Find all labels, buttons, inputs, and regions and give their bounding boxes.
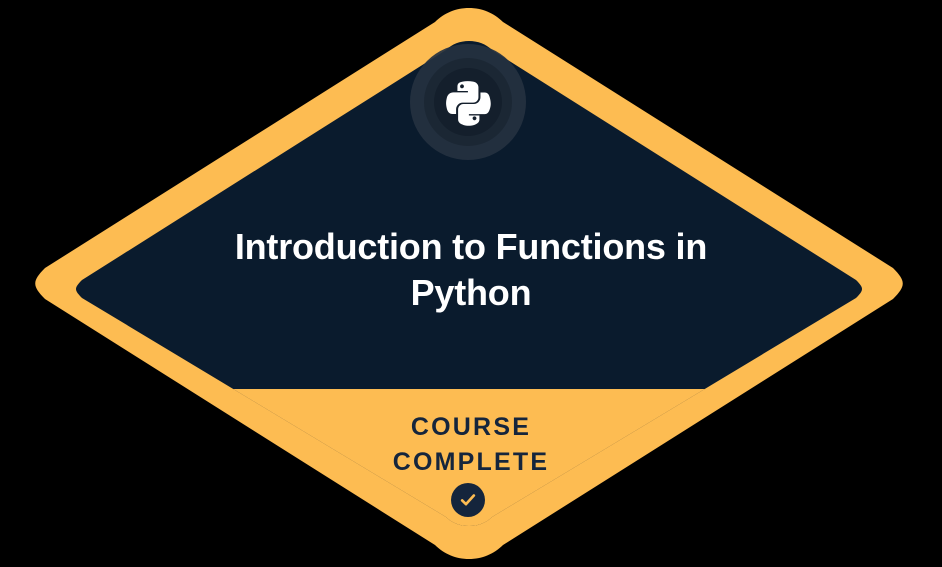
status-block: COURSE COMPLETE bbox=[271, 410, 671, 480]
course-title: Introduction to Functions in Python bbox=[171, 224, 771, 316]
python-logo-icon bbox=[444, 78, 492, 126]
python-logo-medallion bbox=[410, 44, 526, 160]
status-line-complete: COMPLETE bbox=[271, 445, 671, 480]
course-completion-badge: Introduction to Functions in Python COUR… bbox=[0, 0, 942, 567]
check-circle-icon bbox=[451, 483, 485, 517]
check-mark-icon bbox=[458, 490, 478, 510]
status-line-course: COURSE bbox=[271, 410, 671, 445]
